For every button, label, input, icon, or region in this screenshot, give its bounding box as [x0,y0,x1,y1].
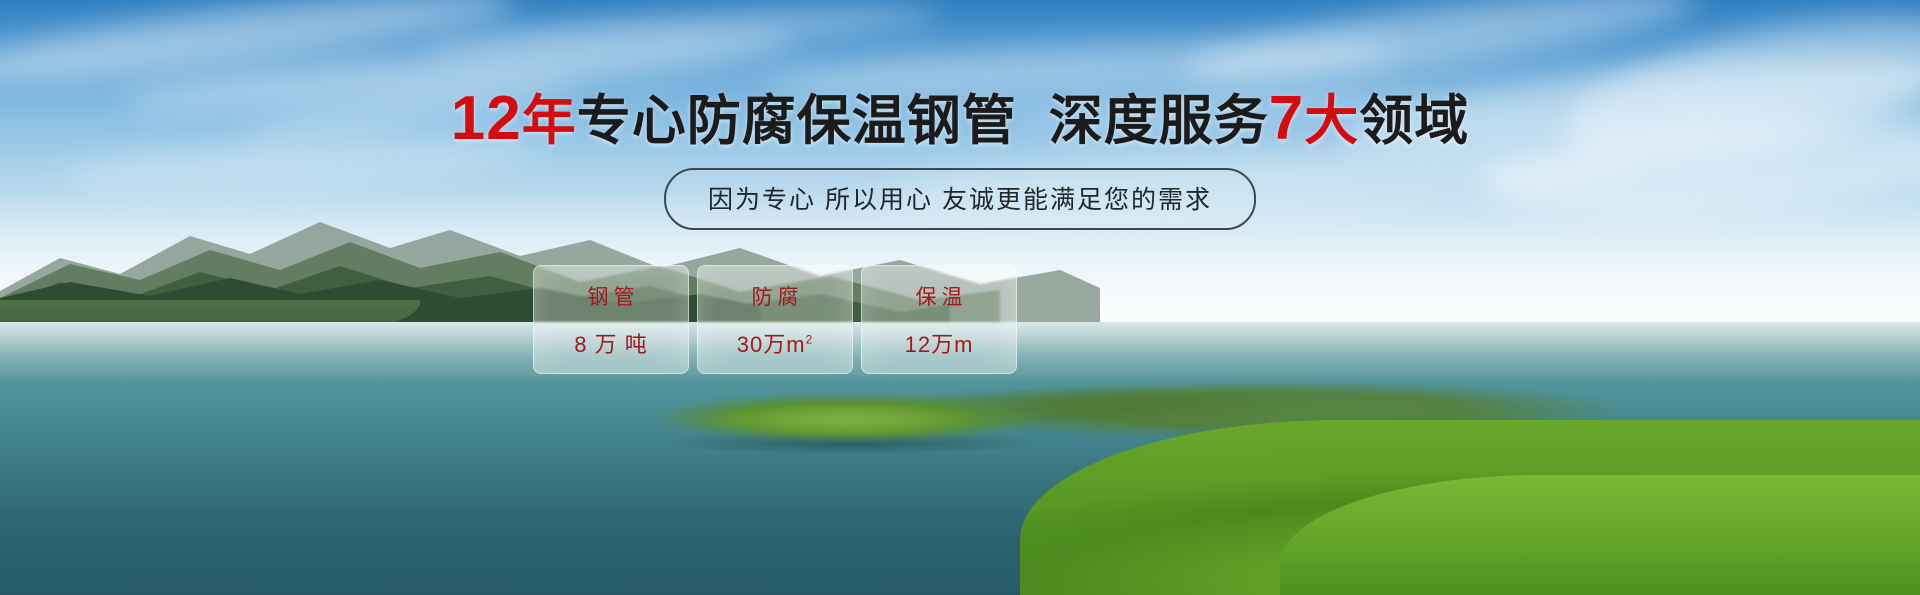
stat-card-title: 保温 [911,281,968,311]
stat-card-insulation[interactable]: 保温 12万m [861,265,1017,374]
promo-banner: 12年专心防腐保温钢管深度服务7大领域 因为专心 所以用心 友诚更能满足您的需求… [0,0,1920,595]
stat-card-title: 防腐 [747,281,804,311]
headline-years-unit: 年 [522,91,577,151]
stat-card-title: 钢管 [583,281,640,311]
page-title: 12年专心防腐保温钢管深度服务7大领域 [0,88,1920,150]
stat-card-anticorrosion[interactable]: 防腐 30万m2 [697,265,853,374]
headline-fields-number: 7 [1269,84,1304,153]
headline-main-text: 专心防腐保温钢管 [577,91,1017,151]
stat-card-value-text: 12万m [905,332,974,357]
stat-card-value-text: 8 万 吨 [574,332,647,357]
headline-fields-unit: 大 [1304,91,1359,151]
stat-card-value-sup: 2 [806,332,814,346]
headline-years-number: 12 [451,84,522,153]
grass-islet-top [700,400,990,440]
subtitle-pill: 因为专心 所以用心 友诚更能满足您的需求 [664,168,1256,230]
stat-card-value: 30万m2 [737,327,814,359]
stat-card-steel-pipe[interactable]: 钢管 8 万 吨 [533,265,689,374]
headline-fields-text: 领域 [1359,91,1469,151]
stat-card-list: 钢管 8 万 吨 防腐 30万m2 保温 12万m [533,265,1017,374]
stat-card-value: 8 万 吨 [574,327,647,359]
stat-card-value-text: 30万m [737,332,806,357]
stat-card-value: 12万m [905,327,974,359]
headline-service-text: 深度服务 [1049,91,1269,151]
